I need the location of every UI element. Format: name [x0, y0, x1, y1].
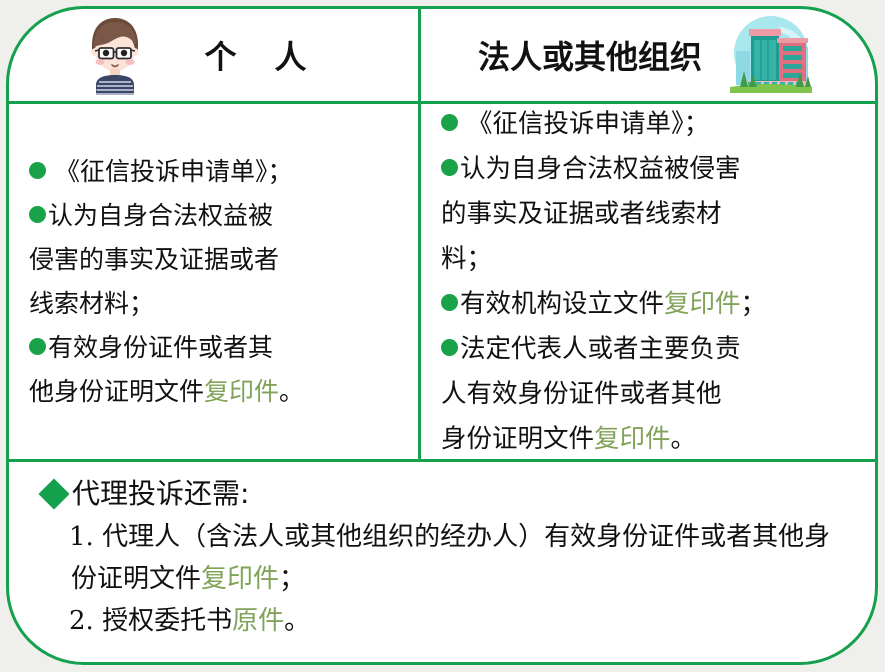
bullet-dot-icon	[441, 339, 458, 356]
agent-item-1-number: 1.	[69, 522, 94, 552]
organization-line-3: 的事实及证据或者线索材	[441, 199, 722, 229]
header-title-individual: 个人	[166, 32, 344, 78]
organization-line-1: 《征信投诉申请单》；	[467, 109, 709, 139]
requirements-table: 个人 法人或其他组织	[9, 9, 875, 662]
bullet-dot-icon	[29, 162, 46, 179]
diamond-bullet-icon	[38, 478, 69, 509]
list-item: 2. 授权委托书原件。	[43, 600, 847, 642]
agent-item-2-tail: 。	[284, 606, 310, 636]
organization-line-7: 人有效身份证件或者其他	[441, 379, 722, 409]
organization-highlight-copy-2: 复印件	[594, 424, 671, 454]
header-cell-organization: 法人或其他组织	[421, 9, 878, 101]
header-title-organization: 法人或其他组织	[478, 32, 702, 78]
list-item: 1. 代理人（含法人或其他组织的经办人）有效身份证件或者其他身份证明文件复印件；	[43, 516, 847, 600]
header-cell-individual: 个人	[9, 9, 418, 101]
bullet-dot-icon	[441, 159, 458, 176]
organization-requirements-text: 《征信投诉申请单》； 认为自身合法权益被侵害 的事实及证据或者线索材 料； 有效…	[441, 102, 865, 462]
organization-line-4: 料；	[441, 244, 492, 274]
agent-item-1-text: 代理人（含法人或其他组织的经办人）有效身份证件或者其他身份证明文件	[71, 522, 830, 594]
person-avatar-icon	[82, 15, 148, 95]
agent-item-2-highlight: 原件	[232, 606, 284, 636]
requirements-card: 个人 法人或其他组织	[6, 6, 878, 665]
individual-line-6: 他身份证明文件	[29, 377, 204, 406]
organization-line-5: 有效机构设立文件	[460, 289, 664, 319]
agent-requirements-heading-label: 代理投诉还需:	[72, 474, 249, 514]
body-cell-organization: 《征信投诉申请单》； 认为自身合法权益被侵害 的事实及证据或者线索材 料； 有效…	[421, 104, 878, 459]
individual-line-6-tail: 。	[279, 377, 304, 406]
organization-line-8: 身份证明文件	[441, 424, 594, 454]
bullet-dot-icon	[29, 338, 46, 355]
agent-requirements-list: 1. 代理人（含法人或其他组织的经办人）有效身份证件或者其他身份证明文件复印件；…	[43, 516, 847, 642]
body-cell-individual: 《征信投诉申请单》； 认为自身合法权益被 侵害的事实及证据或者 线索材料； 有效…	[9, 104, 418, 459]
organization-line-5-tail: ；	[741, 289, 767, 319]
organization-highlight-copy-1: 复印件	[664, 289, 741, 319]
individual-line-5: 有效身份证件或者其	[48, 333, 273, 362]
bullet-dot-icon	[441, 114, 458, 131]
agent-item-1-tail: ；	[279, 564, 305, 594]
individual-line-1: 《征信投诉申请单》；	[55, 157, 293, 186]
individual-requirements-text: 《征信投诉申请单》； 认为自身合法权益被 侵害的事实及证据或者 线索材料； 有效…	[29, 150, 402, 414]
organization-line-2: 认为自身合法权益被侵害	[460, 154, 741, 184]
organization-line-8-tail: 。	[671, 424, 697, 454]
agent-item-1-highlight: 复印件	[201, 564, 279, 594]
individual-highlight-copy: 复印件	[204, 377, 279, 406]
individual-line-2: 认为自身合法权益被	[48, 201, 273, 230]
individual-line-4: 线索材料；	[29, 289, 154, 318]
bullet-dot-icon	[29, 206, 46, 223]
office-building-icon	[718, 13, 824, 97]
agent-requirements-section: 代理投诉还需: 1. 代理人（含法人或其他组织的经办人）有效身份证件或者其他身份…	[9, 462, 875, 665]
table-header-row: 个人 法人或其他组织	[9, 9, 875, 101]
organization-line-6: 法定代表人或者主要负责	[460, 334, 741, 364]
agent-item-2-number: 2.	[69, 606, 94, 636]
bullet-dot-icon	[441, 294, 458, 311]
agent-requirements-heading: 代理投诉还需:	[43, 474, 847, 514]
individual-line-3: 侵害的事实及证据或者	[29, 245, 279, 274]
agent-item-2-text: 授权委托书	[102, 606, 232, 636]
